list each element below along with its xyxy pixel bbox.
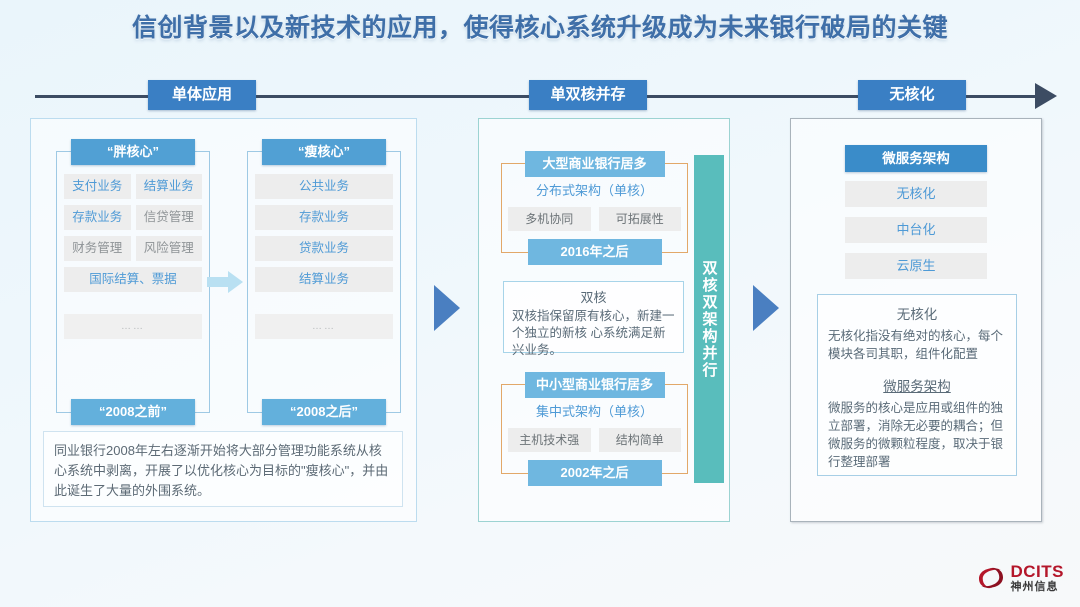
coreless-item-1: 中台化 bbox=[845, 217, 987, 243]
panel-monolithic-note: 同业银行2008年左右逐渐开始将大部分管理功能系统从核心系统中剥离，开展了以优化… bbox=[43, 431, 403, 507]
timeline-stage-2[interactable]: 无核化 bbox=[858, 80, 966, 110]
page-title: 信创背景以及新技术的应用，使得核心系统升级成为未来银行破局的关键 bbox=[0, 8, 1080, 44]
module-row: 财务管理风险管理 bbox=[64, 236, 202, 261]
timeline-stage-0[interactable]: 单体应用 bbox=[148, 80, 256, 110]
logo-text: DCITS 神州信息 bbox=[1011, 563, 1065, 593]
timeline-arrow-icon bbox=[1035, 83, 1057, 109]
module-chip bbox=[64, 298, 202, 308]
architecture-block-small-bank: 中小型商业银行居多 集中式架构（单核） 主机技术强 结构简单 2002年之后 bbox=[501, 384, 688, 474]
module-chip: 结算业务 bbox=[136, 174, 203, 199]
company-logo: DCITS 神州信息 bbox=[976, 563, 1065, 593]
core-column-thin-modules: 公共业务存款业务贷款业务结算业务…… bbox=[255, 174, 393, 345]
architecture-tag: 结构简单 bbox=[599, 428, 682, 452]
dual-core-vertical-banner: 双核双架构并行 bbox=[694, 155, 724, 483]
module-chip: 信贷管理 bbox=[136, 205, 203, 230]
coreless-note-title-2: 微服务架构 bbox=[828, 375, 1006, 395]
panel-coreless: 微服务架构 无核化 中台化 云原生 无核化 无核化指没有绝对的核心，每个模块各司… bbox=[790, 118, 1042, 522]
panel-monolithic: “胖核心” 支付业务结算业务存款业务信贷管理财务管理风险管理国际结算、票据…… … bbox=[30, 118, 417, 522]
logo-text-cn: 神州信息 bbox=[1011, 582, 1065, 593]
logo-text-en: DCITS bbox=[1011, 563, 1065, 580]
module-chip: 公共业务 bbox=[255, 174, 393, 199]
module-chip: 支付业务 bbox=[64, 174, 131, 199]
module-chip: 存款业务 bbox=[64, 205, 131, 230]
architecture-block-large-bank-year: 2016年之后 bbox=[528, 239, 662, 265]
module-chip: 贷款业务 bbox=[255, 236, 393, 261]
dual-core-note: 双核 双核指保留原有核心，新建一个独立的新核 心系统满足新兴业务。 bbox=[503, 281, 684, 353]
architecture-block-large-bank-tags: 多机协同 可拓展性 bbox=[508, 207, 681, 231]
module-chip: 财务管理 bbox=[64, 236, 131, 261]
arrow-head bbox=[228, 271, 243, 293]
panel-transition-arrow-icon-0 bbox=[434, 285, 460, 331]
arrow-shaft bbox=[207, 277, 229, 287]
module-row: 结算业务 bbox=[255, 267, 393, 292]
module-row: 公共业务 bbox=[255, 174, 393, 199]
module-chip: 风险管理 bbox=[136, 236, 203, 261]
coreless-note-title-1: 无核化 bbox=[828, 303, 1006, 323]
core-column-thin-footer: “2008之后” bbox=[262, 399, 386, 425]
panel-transition-arrow-icon-1 bbox=[753, 285, 779, 331]
core-column-fat-caption: “胖核心” bbox=[71, 139, 195, 165]
core-column-thin: “瘦核心” 公共业务存款业务贷款业务结算业务…… “2008之后” bbox=[247, 151, 401, 413]
panel-dual-core: 大型商业银行居多 分布式架构（单核） 多机协同 可拓展性 2016年之后 双核 … bbox=[478, 118, 730, 522]
module-row: 支付业务结算业务 bbox=[64, 174, 202, 199]
architecture-block-large-bank: 大型商业银行居多 分布式架构（单核） 多机协同 可拓展性 2016年之后 bbox=[501, 163, 688, 253]
architecture-tag: 可拓展性 bbox=[599, 207, 682, 231]
module-chip bbox=[255, 298, 393, 308]
dual-core-note-body: 双核指保留原有核心，新建一个独立的新核 心系统满足新兴业务。 bbox=[512, 308, 675, 359]
core-column-fat-footer: “2008之前” bbox=[71, 399, 195, 425]
timeline-stage-1[interactable]: 单双核并存 bbox=[529, 80, 647, 110]
core-column-fat: “胖核心” 支付业务结算业务存款业务信贷管理财务管理风险管理国际结算、票据…… … bbox=[56, 151, 210, 413]
dcits-swirl-icon bbox=[976, 563, 1006, 593]
architecture-block-large-bank-subtitle: 分布式架构（单核） bbox=[502, 180, 687, 199]
module-row: 贷款业务 bbox=[255, 236, 393, 261]
coreless-item-2: 云原生 bbox=[845, 253, 987, 279]
module-chip: …… bbox=[64, 314, 202, 339]
architecture-block-small-bank-year: 2002年之后 bbox=[528, 460, 662, 486]
architecture-tag: 主机技术强 bbox=[508, 428, 591, 452]
module-row: …… bbox=[64, 314, 202, 339]
coreless-note: 无核化 无核化指没有绝对的核心，每个模块各司其职，组件化配置 微服务架构 微服务… bbox=[817, 294, 1017, 476]
coreless-note-body-2: 微服务的核心是应用或组件的独立部署，消除无必要的耦合；但微服务的微颗粒程度，取决… bbox=[828, 399, 1006, 471]
core-column-thin-caption: “瘦核心” bbox=[262, 139, 386, 165]
module-row: 存款业务 bbox=[255, 205, 393, 230]
coreless-note-body-1: 无核化指没有绝对的核心，每个模块各司其职，组件化配置 bbox=[828, 327, 1006, 363]
module-chip: 国际结算、票据 bbox=[64, 267, 202, 292]
dual-core-note-title: 双核 bbox=[512, 287, 675, 306]
timeline: 单体应用 单双核并存 无核化 bbox=[0, 78, 1080, 114]
architecture-block-large-bank-caption: 大型商业银行居多 bbox=[525, 151, 665, 177]
coreless-item-0: 无核化 bbox=[845, 181, 987, 207]
architecture-block-small-bank-subtitle: 集中式架构（单核） bbox=[502, 401, 687, 420]
module-row: 国际结算、票据 bbox=[64, 267, 202, 292]
module-row: …… bbox=[255, 314, 393, 339]
architecture-tag: 多机协同 bbox=[508, 207, 591, 231]
module-chip: 存款业务 bbox=[255, 205, 393, 230]
module-row bbox=[64, 298, 202, 308]
module-chip: …… bbox=[255, 314, 393, 339]
architecture-block-small-bank-tags: 主机技术强 结构简单 bbox=[508, 428, 681, 452]
microservice-header: 微服务架构 bbox=[845, 145, 987, 172]
architecture-block-small-bank-caption: 中小型商业银行居多 bbox=[525, 372, 665, 398]
module-chip: 结算业务 bbox=[255, 267, 393, 292]
module-row: 存款业务信贷管理 bbox=[64, 205, 202, 230]
core-column-fat-modules: 支付业务结算业务存款业务信贷管理财务管理风险管理国际结算、票据…… bbox=[64, 174, 202, 345]
module-row bbox=[255, 298, 393, 308]
transition-arrow-icon bbox=[207, 271, 243, 293]
